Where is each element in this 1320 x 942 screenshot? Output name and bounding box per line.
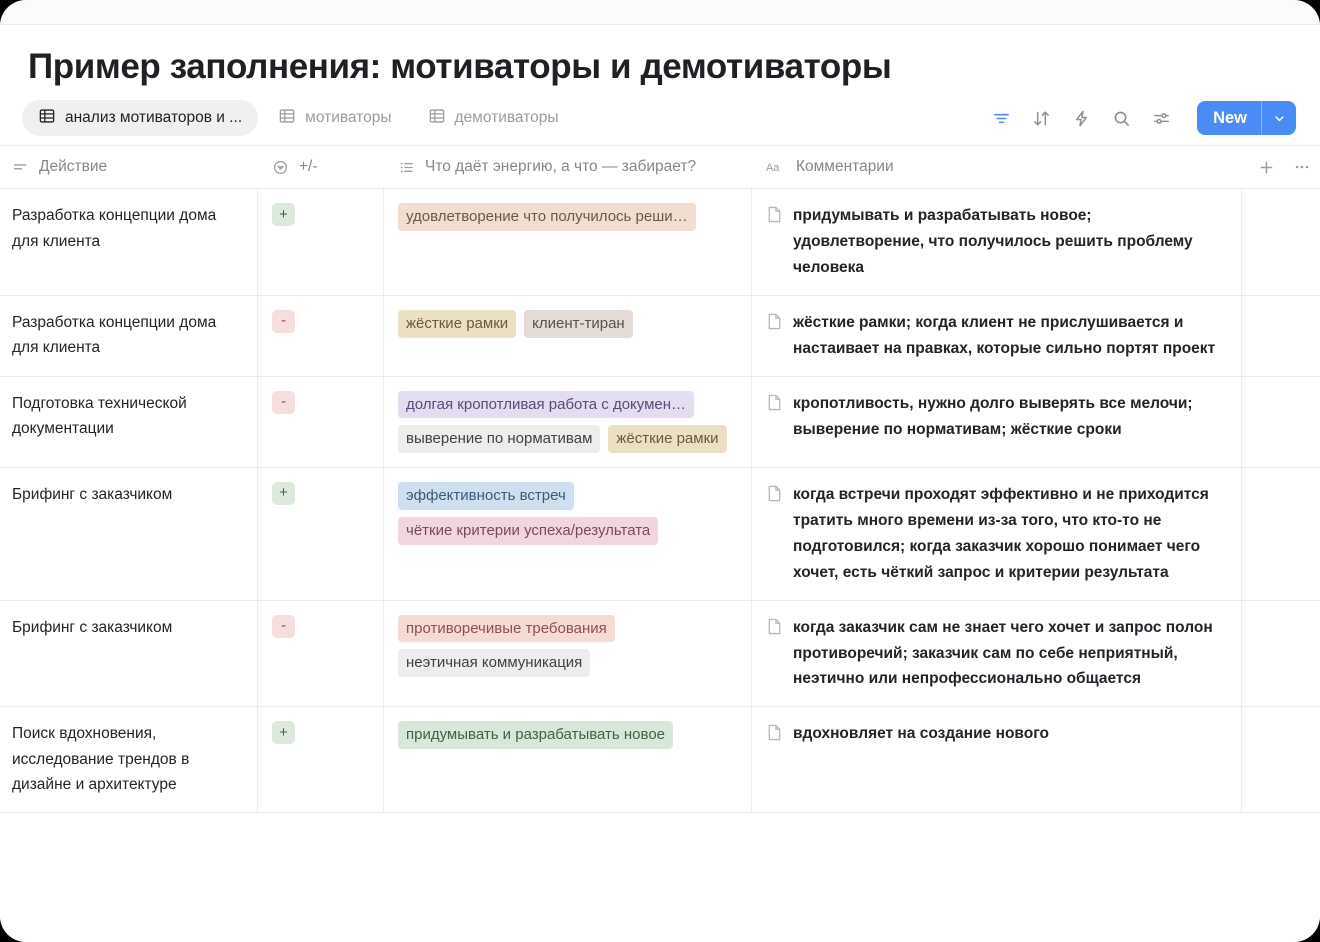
action-text: Брифинг с заказчиком <box>12 482 243 508</box>
comment-text: жёсткие рамки; когда клиент не прислушив… <box>793 310 1227 362</box>
table-row[interactable]: Разработка концепции дома для клиента-жё… <box>0 296 1320 377</box>
cell-energy[interactable]: противоречивые требованиянеэтичная комму… <box>384 601 752 707</box>
sliders-icon[interactable] <box>1149 106 1173 130</box>
tag-chip[interactable]: удовлетворение что получилось реши… <box>398 203 696 231</box>
action-text: Разработка концепции дома для клиента <box>12 203 243 254</box>
new-button-label: New <box>1197 101 1261 135</box>
cell-energy[interactable]: жёсткие рамкиклиент-тиран <box>384 296 752 376</box>
cell-pm[interactable]: - <box>258 601 384 707</box>
table-row[interactable]: Поиск вдохновения, исследование трендов … <box>0 707 1320 813</box>
text-lines-icon <box>12 159 29 176</box>
page-header: Пример заполнения: мотиваторы и демотива… <box>0 25 1320 87</box>
column-header-action-label: Действие <box>39 158 107 176</box>
comment-text: вдохновляет на создание нового <box>793 721 1049 747</box>
document-icon <box>766 312 783 336</box>
cell-energy[interactable]: долгая кропотливая работа с докумен…выве… <box>384 377 752 468</box>
table-row[interactable]: Подготовка технической документации-долг… <box>0 377 1320 469</box>
action-text: Поиск вдохновения, исследование трендов … <box>12 721 243 798</box>
tag-chip[interactable]: эффективность встреч <box>398 482 574 510</box>
tab-bar: анализ мотиваторов и ...мотиваторыдемоти… <box>0 87 1320 133</box>
document-icon <box>766 205 783 229</box>
tag-list: придумывать и разрабатывать новое <box>398 721 737 749</box>
cell-end <box>1242 377 1320 468</box>
app-window: Пример заполнения: мотиваторы и демотива… <box>0 0 1320 942</box>
tag-chip[interactable]: неэтичная коммуникация <box>398 649 590 677</box>
filter-icon[interactable] <box>989 106 1013 130</box>
pm-badge: + <box>272 721 295 744</box>
aa-text-icon: Aa <box>766 160 786 175</box>
grid-rows: Разработка концепции дома для клиента+уд… <box>0 189 1320 813</box>
comment-block: вдохновляет на создание нового <box>766 721 1227 747</box>
tag-list: эффективность встреччёткие критерии успе… <box>398 482 737 545</box>
lightning-icon[interactable] <box>1069 106 1093 130</box>
document-icon <box>766 393 783 417</box>
svg-text:Aa: Aa <box>766 162 780 174</box>
document-icon <box>766 723 783 747</box>
table-row[interactable]: Брифинг с заказчиком+эффективность встре… <box>0 468 1320 601</box>
column-header-energy[interactable]: Что даёт энергию, а что — забирает? <box>384 146 752 188</box>
cell-pm[interactable]: - <box>258 296 384 376</box>
comment-text: когда заказчик сам не знает чего хочет и… <box>793 615 1227 693</box>
new-button[interactable]: New <box>1197 101 1296 135</box>
add-column-icon[interactable] <box>1258 159 1275 176</box>
tag-chip[interactable]: противоречивые требования <box>398 615 615 643</box>
document-icon <box>766 617 783 641</box>
tag-list: противоречивые требованиянеэтичная комму… <box>398 615 737 678</box>
comment-text: когда встречи проходят эффективно и не п… <box>793 482 1227 586</box>
column-header-action[interactable]: Действие <box>0 146 258 188</box>
cell-pm[interactable]: + <box>258 707 384 812</box>
table-icon <box>428 107 446 130</box>
column-header-actions <box>1242 146 1320 188</box>
cell-action[interactable]: Поиск вдохновения, исследование трендов … <box>0 707 258 812</box>
column-header-energy-label: Что даёт энергию, а что — забирает? <box>425 158 696 176</box>
pm-badge: - <box>272 615 295 638</box>
comment-block: когда встречи проходят эффективно и не п… <box>766 482 1227 586</box>
tag-chip[interactable]: жёсткие рамки <box>398 310 516 338</box>
pm-badge: - <box>272 391 295 414</box>
cell-end <box>1242 707 1320 812</box>
view-tab-label: анализ мотиваторов и ... <box>65 109 242 127</box>
cell-end <box>1242 189 1320 295</box>
search-icon[interactable] <box>1109 106 1133 130</box>
cell-comment[interactable]: вдохновляет на создание нового <box>752 707 1242 812</box>
document-icon <box>766 484 783 508</box>
comment-text: придумывать и разрабатывать новое; удовл… <box>793 203 1227 281</box>
view-tab-2[interactable]: демотиваторы <box>412 100 575 136</box>
comment-block: жёсткие рамки; когда клиент не прислушив… <box>766 310 1227 362</box>
cell-energy[interactable]: удовлетворение что получилось реши… <box>384 189 752 295</box>
chevron-down-icon[interactable] <box>1262 101 1296 135</box>
cell-pm[interactable]: - <box>258 377 384 468</box>
table-row[interactable]: Брифинг с заказчиком-противоречивые треб… <box>0 601 1320 708</box>
tag-chip[interactable]: чёткие критерии успеха/результата <box>398 517 658 545</box>
cell-comment[interactable]: кропотливость, нужно долго выверять все … <box>752 377 1242 468</box>
view-tab-0[interactable]: анализ мотиваторов и ... <box>22 100 258 136</box>
table-icon <box>278 107 296 130</box>
pm-badge: + <box>272 203 295 226</box>
view-tabs: анализ мотиваторов и ...мотиваторыдемоти… <box>22 100 575 136</box>
column-header-pm-label: +/- <box>299 158 318 176</box>
cell-comment[interactable]: когда встречи проходят эффективно и не п… <box>752 468 1242 600</box>
column-header-comment[interactable]: Aa Комментарии <box>752 146 1242 188</box>
table-icon <box>38 107 56 130</box>
view-tab-label: демотиваторы <box>455 109 559 127</box>
cell-action[interactable]: Брифинг с заказчиком <box>0 468 258 600</box>
cell-action[interactable]: Брифинг с заказчиком <box>0 601 258 707</box>
pm-badge: - <box>272 310 295 333</box>
table-row[interactable]: Разработка концепции дома для клиента+уд… <box>0 189 1320 296</box>
cell-pm[interactable]: + <box>258 189 384 295</box>
cell-action[interactable]: Разработка концепции дома для клиента <box>0 189 258 295</box>
tag-list: жёсткие рамкиклиент-тиран <box>398 310 737 338</box>
action-text: Разработка концепции дома для клиента <box>12 310 243 361</box>
select-circle-icon <box>272 159 289 176</box>
tag-chip[interactable]: выверение по нормативам <box>398 425 600 453</box>
action-text: Подготовка технической документации <box>12 391 243 442</box>
comment-block: когда заказчик сам не знает чего хочет и… <box>766 615 1227 693</box>
cell-energy[interactable]: придумывать и разрабатывать новое <box>384 707 752 812</box>
cell-comment[interactable]: жёсткие рамки; когда клиент не прислушив… <box>752 296 1242 376</box>
tag-chip[interactable]: клиент-тиран <box>524 310 633 338</box>
comment-block: придумывать и разрабатывать новое; удовл… <box>766 203 1227 281</box>
page-title: Пример заполнения: мотиваторы и демотива… <box>28 47 1320 87</box>
page-body: Пример заполнения: мотиваторы и демотива… <box>0 25 1320 942</box>
toolbar: New <box>989 101 1296 135</box>
tag-chip[interactable]: долгая кропотливая работа с докумен… <box>398 391 694 419</box>
cell-pm[interactable]: + <box>258 468 384 600</box>
grid-header-row: Действие +/- <box>0 146 1320 189</box>
cell-end <box>1242 468 1320 600</box>
cell-comment[interactable]: придумывать и разрабатывать новое; удовл… <box>752 189 1242 295</box>
sort-icon[interactable] <box>1029 106 1053 130</box>
cell-action[interactable]: Разработка концепции дома для клиента <box>0 296 258 376</box>
comment-block: кропотливость, нужно долго выверять все … <box>766 391 1227 443</box>
cell-action[interactable]: Подготовка технической документации <box>0 377 258 468</box>
window-titlebar <box>0 0 1320 25</box>
cell-end <box>1242 296 1320 376</box>
multiselect-list-icon <box>398 159 415 176</box>
tag-chip[interactable]: придумывать и разрабатывать новое <box>398 721 673 749</box>
column-header-pm[interactable]: +/- <box>258 146 384 188</box>
data-grid: Действие +/- <box>0 145 1320 813</box>
pm-badge: + <box>272 482 295 505</box>
cell-comment[interactable]: когда заказчик сам не знает чего хочет и… <box>752 601 1242 707</box>
cell-end <box>1242 601 1320 707</box>
more-options-icon[interactable] <box>1293 158 1311 176</box>
comment-text: кропотливость, нужно долго выверять все … <box>793 391 1227 443</box>
view-tab-label: мотиваторы <box>305 109 391 127</box>
tag-chip[interactable]: жёсткие рамки <box>608 425 726 453</box>
column-header-comment-label: Комментарии <box>796 158 894 176</box>
tag-list: удовлетворение что получилось реши… <box>398 203 737 231</box>
view-tab-1[interactable]: мотиваторы <box>262 100 407 136</box>
action-text: Брифинг с заказчиком <box>12 615 243 641</box>
cell-energy[interactable]: эффективность встреччёткие критерии успе… <box>384 468 752 600</box>
tag-list: долгая кропотливая работа с докумен…выве… <box>398 391 737 454</box>
